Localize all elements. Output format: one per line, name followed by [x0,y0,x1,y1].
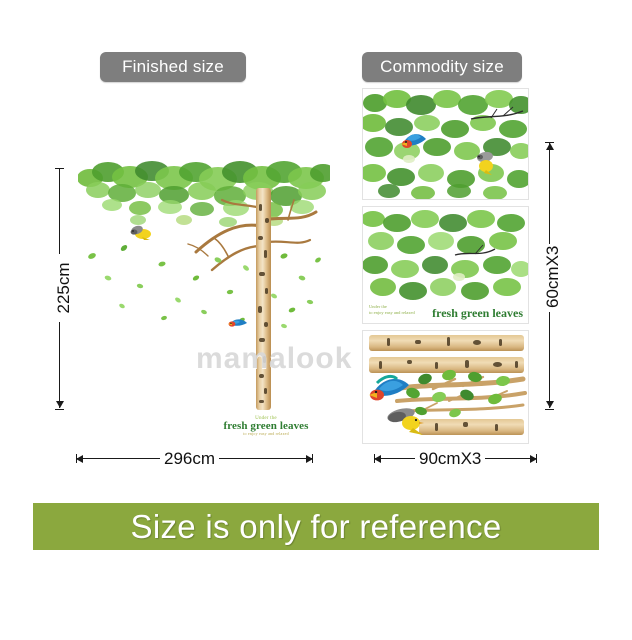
commodity-size-label: Commodity size [362,52,522,82]
decal-caption: Under the fresh green leaves to enjoy ea… [206,416,326,436]
sheet-trunk-branches [362,330,529,444]
sheet2-main-text: fresh green leaves [432,306,523,321]
sheet3-yellow-bird-icon [383,403,429,437]
yellow-bird-icon [130,222,156,242]
product-size-infographic: Finished size Commodity size [0,0,632,640]
reference-banner: Size is only for reference [33,503,599,550]
decal-sub-text: to enjoy easy and relaxed [206,432,326,436]
finished-size-label-text: Finished size [122,57,224,77]
commodity-size-label-text: Commodity size [380,57,504,77]
finished-size-artwork: Under the fresh green leaves to enjoy ea… [78,160,330,412]
sheet1-yellow-bird-icon [473,149,499,177]
sheet-leaves-birds [362,88,529,200]
sheet2-pre-line2: to enjoy easy and relaxed [369,310,415,316]
blue-parrot-icon [226,314,250,332]
dimension-commodity-height-label: 60cmX3 [543,244,563,312]
dimension-commodity-width-label: 90cmX3 [415,449,485,469]
falling-leaves-icon [78,160,330,412]
sheet2-caption: Under the to enjoy easy and relaxed fres… [367,303,525,321]
dimension-finished-width-label: 296cm [160,449,219,469]
finished-size-label: Finished size [100,52,246,82]
sheet1-parrot-icon [399,127,429,153]
sheet3-parrot-icon [367,369,411,407]
dimension-finished-height-label: 225cm [54,254,74,322]
sheet2-pre-text: Under the to enjoy easy and relaxed [369,304,415,315]
sheet-leaves-text: Under the to enjoy easy and relaxed fres… [362,206,529,324]
sheet1-foliage-icon [363,89,528,199]
reference-banner-text: Size is only for reference [131,508,502,546]
